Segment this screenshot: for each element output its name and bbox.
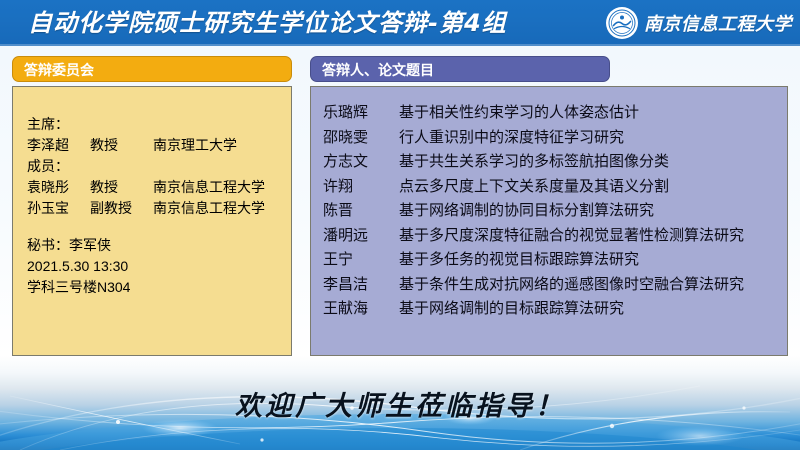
candidate-thesis: 基于共生关系学习的多标签航拍图像分类	[399, 150, 787, 175]
candidate-name: 陈晋	[323, 199, 399, 224]
committee-member-row: 袁晓彤 教授 南京信息工程大学	[27, 177, 291, 198]
spacer	[27, 219, 291, 235]
page-title: 自动化学院硕士研究生学位论文答辩-第4组	[28, 7, 507, 39]
committee-chair-affiliation: 南京理工大学	[153, 135, 291, 156]
candidate-row: 潘明远 基于多尺度深度特征融合的视觉显著性检测算法研究	[323, 224, 787, 249]
committee-header-label: 答辩委员会	[12, 56, 292, 82]
committee-member-row: 孙玉宝 副教授 南京信息工程大学	[27, 198, 291, 219]
candidate-name: 方志文	[323, 150, 399, 175]
candidate-row: 邵晓雯 行人重识别中的深度特征学习研究	[323, 126, 787, 151]
committee-chair-label: 主席：	[27, 114, 291, 135]
candidate-thesis: 点云多尺度上下文关系度量及其语义分割	[399, 175, 787, 200]
welcome-text: 欢迎广大师生莅临指导！	[0, 384, 800, 423]
candidate-thesis: 基于条件生成对抗网络的遥感图像时空融合算法研究	[399, 273, 787, 298]
committee-chair-row: 李泽超 教授 南京理工大学	[27, 135, 291, 156]
welcome-banner: 欢迎广大师生莅临指导！	[0, 356, 800, 450]
defense-location: 学科三号楼N304	[27, 277, 291, 298]
candidate-row: 许翔 点云多尺度上下文关系度量及其语义分割	[323, 175, 787, 200]
slide-body: 答辩委员会 主席： 李泽超 教授 南京理工大学 成员： 袁晓彤 教授 南京信息工…	[0, 46, 800, 356]
committee-members-label: 成员：	[27, 156, 291, 177]
candidate-thesis: 基于多尺度深度特征融合的视觉显著性检测算法研究	[399, 224, 787, 249]
committee-member-name: 袁晓彤	[27, 177, 90, 198]
candidate-row: 乐璐辉 基于相关性约束学习的人体姿态估计	[323, 101, 787, 126]
university-seal-icon	[606, 7, 638, 39]
candidates-panel: 答辩人、论文题目 乐璐辉 基于相关性约束学习的人体姿态估计 邵晓雯 行人重识别中…	[310, 56, 788, 356]
committee-panel: 答辩委员会 主席： 李泽超 教授 南京理工大学 成员： 袁晓彤 教授 南京信息工…	[12, 56, 292, 356]
committee-secretary: 秘书：李军侠	[27, 235, 291, 256]
candidate-row: 王宁 基于多任务的视觉目标跟踪算法研究	[323, 248, 787, 273]
university-wordmark: 南京信息工程大学	[644, 10, 792, 36]
title-bar: 自动化学院硕士研究生学位论文答辩-第4组 南京信息工程大学	[0, 0, 800, 46]
candidate-row: 王献海 基于网络调制的目标跟踪算法研究	[323, 297, 787, 322]
candidate-name: 潘明远	[323, 224, 399, 249]
presentation-slide: 自动化学院硕士研究生学位论文答辩-第4组 南京信息工程大学 答辩委员会 主席：	[0, 0, 800, 450]
committee-member-affiliation: 南京信息工程大学	[153, 198, 291, 219]
candidate-row: 陈晋 基于网络调制的协同目标分割算法研究	[323, 199, 787, 224]
candidate-row: 李昌洁 基于条件生成对抗网络的遥感图像时空融合算法研究	[323, 273, 787, 298]
committee-chair-name: 李泽超	[27, 135, 90, 156]
committee-body: 主席： 李泽超 教授 南京理工大学 成员： 袁晓彤 教授 南京信息工程大学 孙玉…	[12, 86, 292, 356]
candidate-name: 邵晓雯	[323, 126, 399, 151]
candidate-name: 乐璐辉	[323, 101, 399, 126]
candidate-row: 方志文 基于共生关系学习的多标签航拍图像分类	[323, 150, 787, 175]
committee-member-title: 教授	[90, 177, 153, 198]
candidate-thesis: 基于网络调制的目标跟踪算法研究	[399, 297, 787, 322]
committee-chair-title: 教授	[90, 135, 153, 156]
candidate-thesis: 基于网络调制的协同目标分割算法研究	[399, 199, 787, 224]
committee-member-affiliation: 南京信息工程大学	[153, 177, 291, 198]
candidate-thesis: 行人重识别中的深度特征学习研究	[399, 126, 787, 151]
candidate-name: 王宁	[323, 248, 399, 273]
candidates-body: 乐璐辉 基于相关性约束学习的人体姿态估计 邵晓雯 行人重识别中的深度特征学习研究…	[310, 86, 788, 356]
committee-member-title: 副教授	[90, 198, 153, 219]
candidates-header-label: 答辩人、论文题目	[310, 56, 610, 82]
candidate-name: 李昌洁	[323, 273, 399, 298]
candidate-thesis: 基于相关性约束学习的人体姿态估计	[399, 101, 787, 126]
candidate-thesis: 基于多任务的视觉目标跟踪算法研究	[399, 248, 787, 273]
committee-member-name: 孙玉宝	[27, 198, 90, 219]
candidate-name: 许翔	[323, 175, 399, 200]
candidate-name: 王献海	[323, 297, 399, 322]
defense-datetime: 2021.5.30 13:30	[27, 256, 291, 277]
university-logo: 南京信息工程大学	[606, 5, 792, 41]
